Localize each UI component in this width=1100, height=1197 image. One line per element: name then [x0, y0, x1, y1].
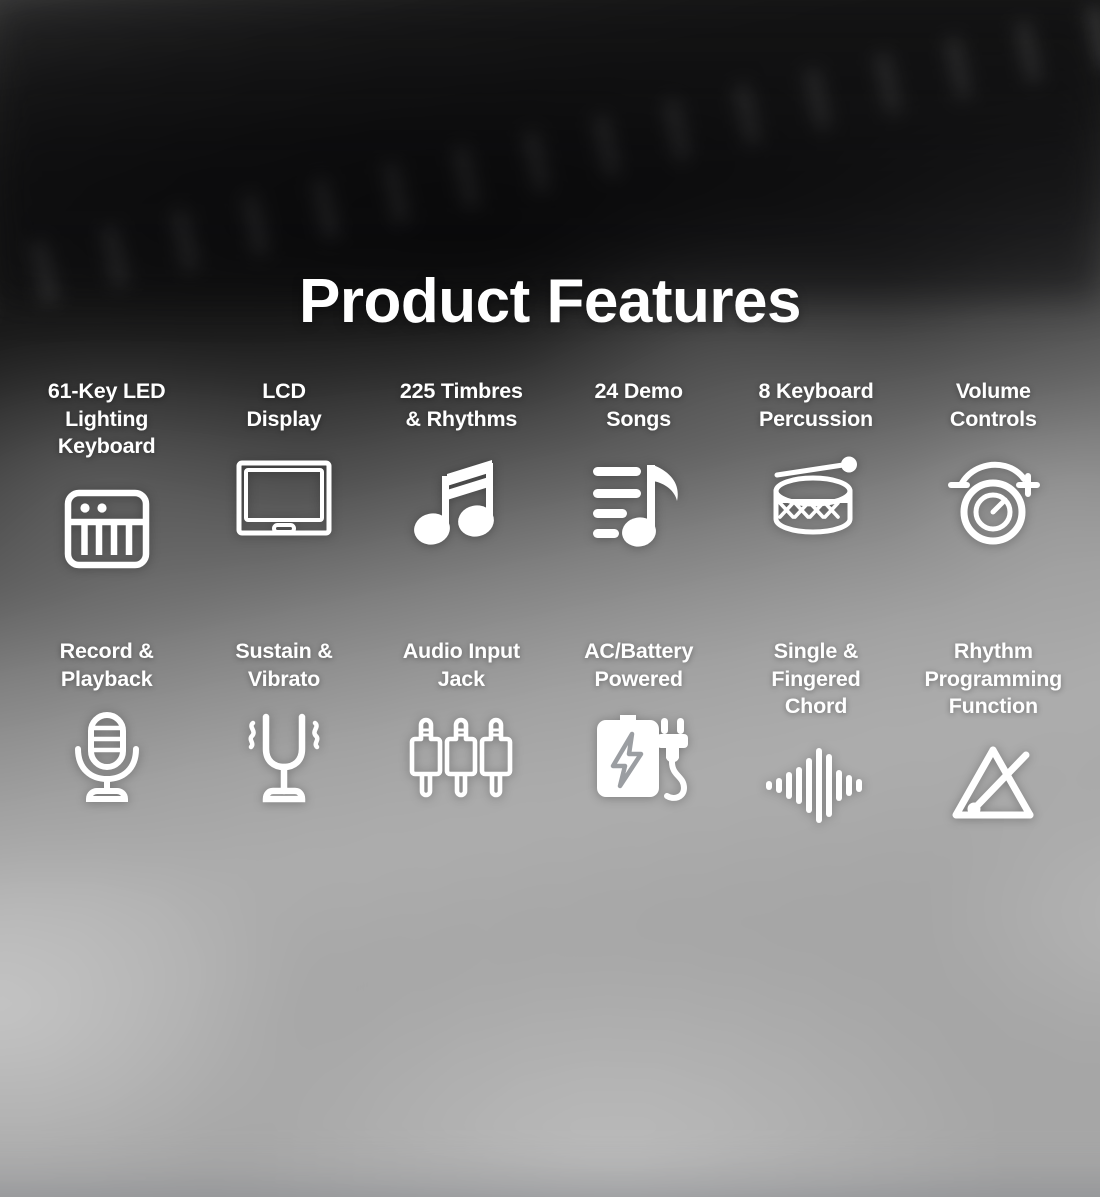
feature-volume-controls: Volume Controls	[905, 378, 1082, 583]
feature-label: Record & Playback	[60, 638, 154, 693]
feature-keyboard-percussion: 8 Keyboard Percussion	[727, 378, 904, 583]
page-title: Product Features	[0, 271, 1100, 333]
feature-label: 24 Demo Songs	[595, 378, 683, 433]
feature-label: 225 Timbres & Rhythms	[400, 378, 523, 433]
snare-drum-icon	[762, 447, 870, 555]
feature-timbres-rhythms: 225 Timbres & Rhythms	[373, 378, 550, 583]
beamed-notes-icon	[407, 447, 515, 555]
feature-rhythm-programming: Rhythm Programming Function	[905, 638, 1082, 839]
feature-led-keyboard: 61-Key LED Lighting Keyboard	[18, 378, 195, 583]
feature-demo-songs: 24 Demo Songs	[550, 378, 727, 583]
microphone-icon	[53, 703, 161, 811]
feature-audio-input-jack: Audio Input Jack	[373, 638, 550, 839]
tuning-fork-icon	[230, 703, 338, 811]
feature-single-fingered-chord: Single & Fingered Chord	[727, 638, 904, 839]
lcd-display-icon	[230, 447, 338, 555]
playlist-note-icon	[585, 447, 693, 555]
feature-lcd-display: LCD Display	[195, 378, 372, 583]
triangle-instrument-icon	[939, 731, 1047, 839]
waveform-icon	[762, 731, 870, 839]
feature-label: Rhythm Programming Function	[925, 638, 1063, 721]
features-row-2: Record & Playback Sustain & Vibrato	[18, 638, 1082, 839]
feature-ac-battery-powered: AC/Battery Powered	[550, 638, 727, 839]
audio-jacks-icon	[407, 703, 515, 811]
infographic-content: Product Features 61-Key LED Lighting Key…	[0, 0, 1100, 1100]
feature-label: Sustain & Vibrato	[235, 638, 332, 693]
feature-sustain-vibrato: Sustain & Vibrato	[195, 638, 372, 839]
led-keyboard-icon	[53, 475, 161, 583]
feature-label: Volume Controls	[950, 378, 1037, 433]
battery-plug-icon	[585, 703, 693, 811]
feature-label: LCD Display	[246, 378, 321, 433]
feature-label: 61-Key LED Lighting Keyboard	[48, 378, 166, 461]
feature-label: AC/Battery Powered	[584, 638, 693, 693]
feature-label: 8 Keyboard Percussion	[758, 378, 873, 433]
feature-label: Single & Fingered Chord	[771, 638, 860, 721]
features-row-1: 61-Key LED Lighting Keyboard LCD Display	[18, 378, 1082, 583]
feature-record-playback: Record & Playback	[18, 638, 195, 839]
volume-knob-icon	[939, 447, 1047, 555]
feature-label: Audio Input Jack	[403, 638, 520, 693]
